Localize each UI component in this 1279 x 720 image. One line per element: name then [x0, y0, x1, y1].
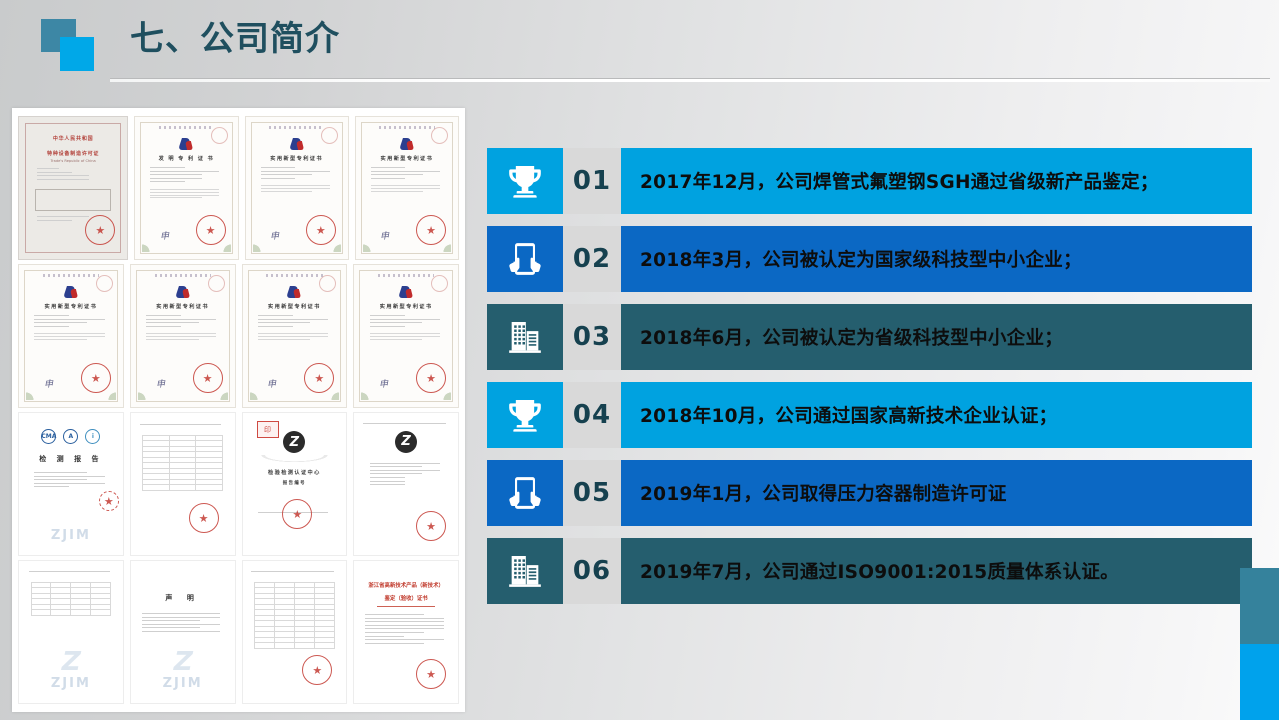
watermark-z-icon: Z [58, 647, 83, 677]
report-title: 检验检测认证中心 [268, 469, 321, 476]
report-subtitle: 报告编号 [283, 480, 306, 486]
certificate-title: 实用新型专利证书 [156, 303, 209, 310]
official-seal [189, 503, 219, 533]
certificate-title: 实用新型专利证书 [45, 303, 98, 310]
report-title: 检 测 报 告 [39, 454, 102, 464]
declaration-note[interactable]: 声 明 Z ZJIM [130, 560, 236, 704]
signature: 申 [270, 229, 279, 243]
building-icon [487, 304, 563, 370]
certificate-row: 中华人民共和国 特种设备制造许可证 Trade's Republic of Ch… [18, 116, 459, 260]
certificate-gallery[interactable]: 中华人民共和国 特种设备制造许可证 Trade's Republic of Ch… [12, 108, 465, 712]
certificate-subtitle: Trade's Republic of China [51, 159, 96, 163]
signature: 申 [380, 229, 389, 243]
certificate-trademark[interactable]: 中华人民共和国 特种设备制造许可证 Trade's Republic of Ch… [18, 116, 128, 260]
red-stamp-icon [257, 421, 279, 438]
test-report-table[interactable] [130, 412, 236, 556]
certificate-row: 实用新型专利证书 申 实用新型专利证书 申 实用新型专利证书 申 [18, 264, 459, 408]
decor-bar-blue [1240, 644, 1279, 720]
official-seal [416, 659, 446, 689]
achievement-text: 2018年3月，公司被认定为国家级科技型中小企业； [621, 226, 1252, 292]
ornament [159, 126, 214, 129]
accreditation-badges: CMA A i [41, 429, 100, 444]
achievement-text: 2017年12月，公司焊管式氟塑钢SGH通过省级新产品鉴定； [621, 148, 1252, 214]
official-seal [85, 215, 115, 245]
company-logo-icon [178, 138, 194, 151]
achievement-text: 2018年10月，公司通过国家高新技术企业认证； [621, 382, 1252, 448]
zj-certification-report[interactable]: Z 检验检测认证中心 报告编号 [242, 412, 348, 556]
achievement-text: 2018年6月，公司被认定为省级科技型中小企业； [621, 304, 1252, 370]
watermark: ZJIM [51, 528, 91, 543]
achievements-list: 01 2017年12月，公司焊管式氟塑钢SGH通过省级新产品鉴定； 02 201… [487, 148, 1252, 616]
corner-seal [321, 127, 338, 144]
official-seal [302, 655, 332, 685]
company-logo-icon [398, 286, 414, 299]
achievement-item-04[interactable]: 04 2018年10月，公司通过国家高新技术企业认证； [487, 382, 1252, 448]
decor-bar-teal [1240, 568, 1279, 644]
data-table [31, 582, 112, 616]
certificate-title-2: 特种设备制造许可证 [47, 150, 99, 157]
certificate-patent[interactable]: 实用新型专利证书 申 [245, 116, 349, 260]
achievement-item-03[interactable]: 03 2018年6月，公司被认定为省级科技型中小企业； [487, 304, 1252, 370]
data-table [142, 435, 223, 491]
achievement-item-01[interactable]: 01 2017年12月，公司焊管式氟塑钢SGH通过省级新产品鉴定； [487, 148, 1252, 214]
test-report-table[interactable]: Z ZJIM [18, 560, 124, 704]
certificate-patent[interactable]: 实用新型专利证书 申 [355, 116, 459, 260]
certificate-patent[interactable]: 实用新型专利证书 申 [130, 264, 236, 408]
achievement-item-02[interactable]: 02 2018年3月，公司被认定为国家级科技型中小企业； [487, 226, 1252, 292]
corner-seal [319, 275, 336, 292]
decor-square-light [60, 37, 94, 71]
achievement-text: 2019年1月，公司取得压力容器制造许可证 [621, 460, 1252, 526]
achievement-number: 05 [563, 460, 621, 526]
certificate-title: 浙江省高新技术产品（新技术） [368, 581, 443, 589]
achievement-text: 2019年7月，公司通过ISO9001:2015质量体系认证。 [621, 538, 1252, 604]
iso-badge-icon: i [85, 429, 100, 444]
signature: 申 [159, 229, 168, 243]
certificate-title: 实用新型专利证书 [268, 303, 321, 310]
achievement-number: 06 [563, 538, 621, 604]
certificate-row: CMA A i 检 测 报 告 ZJIM [18, 412, 459, 556]
certificate-patent[interactable]: 实用新型专利证书 申 [353, 264, 459, 408]
data-table [254, 582, 335, 649]
certificate-patent[interactable]: 发 明 专 利 证 书 申 [134, 116, 238, 260]
certificate-patent[interactable]: 实用新型专利证书 申 [18, 264, 124, 408]
divider [377, 606, 435, 607]
corner-seal [211, 127, 228, 144]
company-logo-icon [63, 286, 79, 299]
certificate-title: 实用新型专利证书 [381, 155, 434, 162]
corner-seal [431, 275, 448, 292]
achievement-item-05[interactable]: 05 2019年1月，公司取得压力容器制造许可证 [487, 460, 1252, 526]
certificate-title: 发 明 专 利 证 书 [159, 155, 215, 162]
trophy-icon [487, 382, 563, 448]
test-report-table[interactable] [242, 560, 348, 704]
cnas-badge-icon: A [63, 429, 78, 444]
header-divider [110, 78, 1270, 82]
corner-seal [96, 275, 113, 292]
certificate-title: 中华人民共和国 [53, 135, 94, 142]
trophy-icon [487, 148, 563, 214]
official-seal [282, 499, 312, 529]
company-logo-icon [399, 138, 415, 151]
slide-header: 七、公司简介 [0, 0, 1279, 92]
corner-seal [431, 127, 448, 144]
ornament [379, 126, 434, 129]
ornament [266, 274, 322, 277]
certificate-patent[interactable]: 实用新型专利证书 申 [242, 264, 348, 408]
ornament [155, 274, 211, 277]
achievement-number: 02 [563, 226, 621, 292]
official-seal [416, 511, 446, 541]
company-logo-icon [175, 286, 191, 299]
watermark: ZJIM [163, 676, 203, 691]
provincial-hi-tech-certificate[interactable]: 浙江省高新技术产品（新技术） 鉴定（验收）证书 [353, 560, 459, 704]
watermark-z-icon: Z [170, 647, 195, 677]
ornament [269, 126, 324, 129]
zj-logo-icon: Z [283, 431, 305, 453]
company-logo-icon [289, 138, 305, 151]
watermark: ZJIM [51, 676, 91, 691]
test-report[interactable]: CMA A i 检 测 报 告 ZJIM [18, 412, 124, 556]
corner-seal [208, 275, 225, 292]
signature: 申 [379, 377, 388, 391]
signature: 申 [267, 377, 276, 391]
certificate-title: 实用新型专利证书 [380, 303, 433, 310]
signature: 申 [43, 377, 52, 391]
certificate-title-2: 鉴定（验收）证书 [385, 594, 428, 602]
ornament [378, 274, 434, 277]
achievement-item-06[interactable]: 06 2019年7月，公司通过ISO9001:2015质量体系认证。 [487, 538, 1252, 604]
certificate-title: 实用新型专利证书 [270, 155, 323, 162]
company-logo-icon [286, 286, 302, 299]
achievement-number: 01 [563, 148, 621, 214]
achievement-number: 04 [563, 382, 621, 448]
zj-logo-icon: Z [395, 431, 417, 453]
ornament [257, 455, 332, 463]
page-title: 七、公司简介 [130, 17, 340, 61]
building-icon [487, 538, 563, 604]
side-seal [99, 491, 119, 511]
signature: 申 [155, 377, 164, 391]
ornament [43, 274, 99, 277]
tablet-hands-icon [487, 226, 563, 292]
achievement-number: 03 [563, 304, 621, 370]
note-title: 声 明 [165, 593, 199, 603]
zj-signature-report[interactable]: Z [353, 412, 459, 556]
tablet-hands-icon [487, 460, 563, 526]
certificate-row: Z ZJIM 声 明 Z ZJIM [18, 560, 459, 704]
cma-badge-icon: CMA [41, 429, 56, 444]
